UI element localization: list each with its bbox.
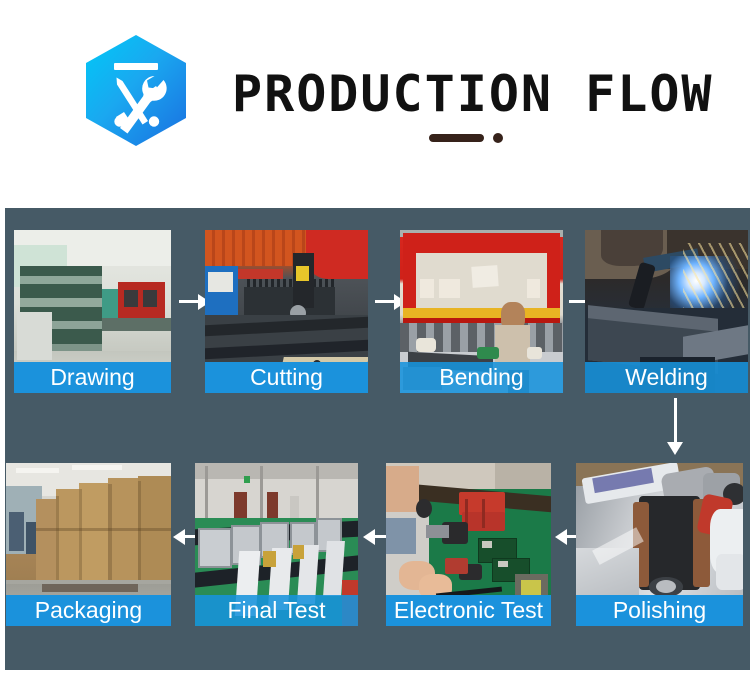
flow-step-label: Electronic Test	[386, 595, 551, 626]
flow-step-bending[interactable]: Bending	[400, 230, 563, 393]
page-title: PRODUCTION FLOW	[232, 58, 732, 130]
divider-dot	[493, 133, 503, 143]
flow-step-label: Cutting	[205, 362, 368, 393]
flow-step-final-test[interactable]: Final Test	[195, 463, 358, 626]
page-header: PRODUCTION FLOW	[0, 0, 750, 205]
arrow-welding-to-polishing	[667, 398, 684, 455]
dash-dot-divider	[429, 131, 527, 145]
flow-step-polishing[interactable]: Polishing	[576, 463, 743, 626]
flow-step-label: Welding	[585, 362, 748, 393]
flow-step-electronic-test[interactable]: Electronic Test	[386, 463, 551, 626]
production-flow-panel: Drawing	[5, 208, 750, 670]
flow-step-label: Bending	[400, 362, 563, 393]
flow-step-packaging[interactable]: Packaging	[6, 463, 171, 626]
flow-step-label: Drawing	[14, 362, 171, 393]
flow-step-drawing[interactable]: Drawing	[14, 230, 171, 393]
hexagon-tools-icon	[80, 33, 192, 148]
divider-dash	[429, 134, 484, 142]
flow-step-welding[interactable]: Welding	[585, 230, 748, 393]
flow-step-label: Packaging	[6, 595, 171, 626]
flow-step-cutting[interactable]: Cutting	[205, 230, 368, 393]
flow-step-label: Polishing	[576, 595, 743, 626]
flow-step-label: Final Test	[195, 595, 358, 626]
